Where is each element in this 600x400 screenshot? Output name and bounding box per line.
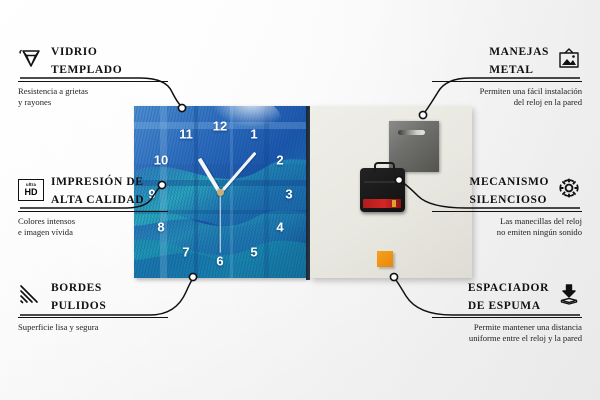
feature-description: Permite mantener una distancia uniforme … bbox=[432, 322, 582, 343]
feature-header: VIDRIO TEMPLADO bbox=[18, 42, 168, 78]
infographic-canvas: 12 1 2 3 4 5 6 7 8 9 10 11 bbox=[0, 0, 600, 400]
ultra-hd-icon: ultra HD bbox=[18, 179, 44, 201]
feature-description: Superficie lisa y segura bbox=[18, 322, 168, 333]
feature-title-line1: MECANISMO bbox=[469, 176, 549, 188]
feature-divider bbox=[18, 317, 168, 318]
picture-frame-hanger-icon bbox=[556, 47, 582, 74]
feature-title: IMPRESIÓN DE ALTA CALIDAD bbox=[51, 172, 144, 208]
feature-title: MECANISMO SILENCIOSO bbox=[469, 172, 549, 208]
feature-header: ESPACIADOR DE ESPUMA bbox=[432, 278, 582, 314]
feature-title: VIDRIO TEMPLADO bbox=[51, 42, 122, 78]
feature-header: BORDES PULIDOS bbox=[18, 278, 168, 314]
feature-title-line1: VIDRIO bbox=[51, 46, 97, 58]
feature-vidrio-templado: VIDRIO TEMPLADO Resistencia a grietas y … bbox=[18, 42, 168, 107]
feature-divider bbox=[18, 211, 168, 212]
feature-header: MANEJAS METAL bbox=[432, 42, 582, 78]
feature-title-line2: METAL bbox=[489, 64, 533, 76]
feature-title-line2: PULIDOS bbox=[51, 300, 106, 312]
feature-divider bbox=[432, 81, 582, 82]
feature-divider bbox=[432, 317, 582, 318]
feature-description: Permiten una fácil instalación del reloj… bbox=[432, 86, 582, 107]
feature-title-line2: DE ESPUMA bbox=[468, 300, 541, 312]
feature-title: BORDES PULIDOS bbox=[51, 278, 106, 314]
ultra-hd-icon-main-text: HD bbox=[25, 188, 38, 197]
feature-title-line1: IMPRESIÓN DE bbox=[51, 176, 144, 188]
down-arrow-pad-icon bbox=[556, 283, 582, 310]
feature-mecanismo-silencioso: MECANISMO SILENCIOSO bbox=[432, 172, 582, 237]
feature-manejas-metal: MANEJAS METAL Permiten una fácil instala… bbox=[432, 42, 582, 107]
feature-title: MANEJAS METAL bbox=[489, 42, 549, 78]
feature-divider bbox=[18, 81, 168, 82]
feature-title-line1: BORDES bbox=[51, 282, 102, 294]
gear-icon bbox=[556, 177, 582, 204]
feature-espaciador-espuma: ESPACIADOR DE ESPUMA Permite mantener un… bbox=[432, 278, 582, 343]
diagonal-lines-icon bbox=[18, 283, 44, 310]
feature-bordes-pulidos: BORDES PULIDOS Superficie lisa y segura bbox=[18, 278, 168, 333]
feature-title: ESPACIADOR DE ESPUMA bbox=[468, 278, 549, 314]
feature-title-line1: MANEJAS bbox=[489, 46, 549, 58]
feature-divider bbox=[432, 211, 582, 212]
feature-header: MECANISMO SILENCIOSO bbox=[432, 172, 582, 208]
feature-title-line1: ESPACIADOR bbox=[468, 282, 549, 294]
feature-description: Resistencia a grietas y rayones bbox=[18, 86, 168, 107]
diamond-icon bbox=[18, 47, 44, 74]
feature-title-line2: TEMPLADO bbox=[51, 64, 122, 76]
feature-header: ultra HD IMPRESIÓN DE ALTA CALIDAD bbox=[18, 172, 168, 208]
feature-title-line2: SILENCIOSO bbox=[469, 194, 547, 206]
feature-description: Las manecillas del reloj no emiten ningú… bbox=[432, 216, 582, 237]
feature-impresion-alta-calidad: ultra HD IMPRESIÓN DE ALTA CALIDAD Color… bbox=[18, 172, 168, 237]
feature-description: Colores intensos e imagen vívida bbox=[18, 216, 168, 237]
feature-title-line2: ALTA CALIDAD bbox=[51, 194, 144, 206]
